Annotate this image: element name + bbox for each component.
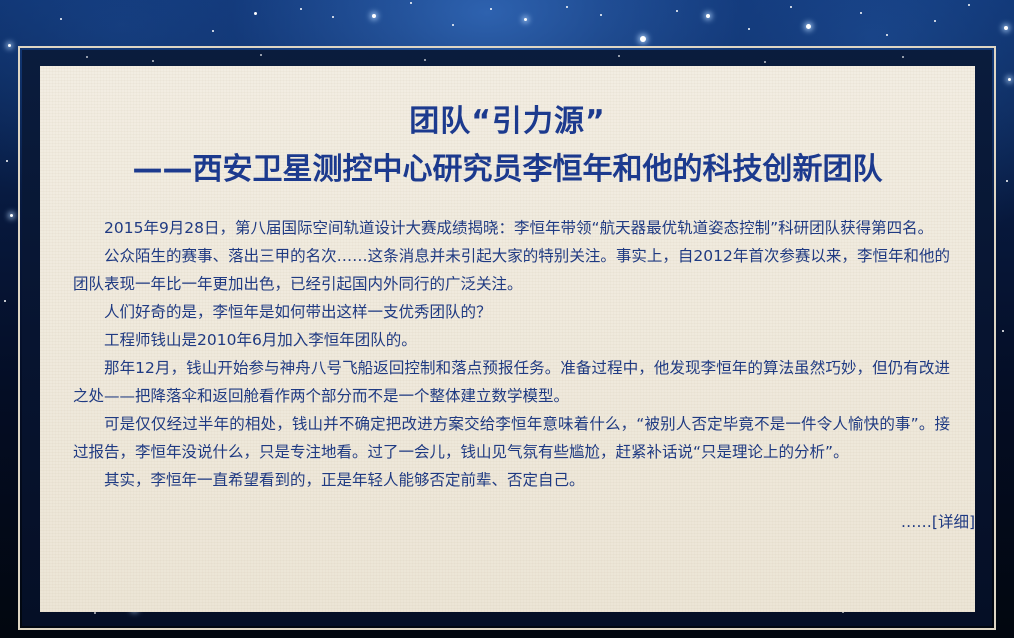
paragraph: 公众陌生的赛事、落出三甲的名次……这条消息并未引起大家的特别关注。事实上，自20…: [73, 242, 950, 298]
star: [452, 24, 454, 26]
star: [640, 36, 646, 42]
paragraph: 其实，李恒年一直希望看到的，正是年轻人能够否定前辈、否定自己。: [73, 466, 950, 494]
star: [902, 56, 904, 58]
article-header: 团队“引力源” ——西安卫星测控中心研究员李恒年和他的科技创新团队: [40, 66, 975, 190]
star: [886, 34, 888, 36]
star: [372, 14, 376, 18]
paragraph: 2015年9月28日，第八届国际空间轨道设计大赛成绩揭晓：李恒年带领“航天器最优…: [73, 214, 950, 242]
star: [212, 30, 214, 32]
star: [260, 54, 262, 56]
star: [10, 214, 13, 217]
star: [60, 18, 62, 20]
star: [764, 61, 766, 63]
page-title: 团队“引力源”: [40, 102, 975, 142]
star: [4, 300, 6, 302]
star: [94, 612, 96, 614]
star: [1006, 180, 1008, 182]
star: [254, 12, 257, 15]
star: [332, 16, 334, 18]
star: [790, 6, 792, 8]
star: [300, 8, 302, 10]
star: [1004, 26, 1008, 30]
star: [748, 28, 750, 30]
star: [806, 24, 811, 29]
star: [6, 160, 8, 162]
star: [706, 14, 710, 18]
star: [424, 59, 426, 61]
paragraph: 工程师钱山是2010年6月加入李恒年团队的。: [73, 326, 950, 354]
star: [490, 8, 492, 10]
star: [676, 10, 678, 12]
star: [152, 60, 154, 62]
star: [860, 12, 862, 14]
read-more-link[interactable]: ……[详细]: [40, 508, 975, 536]
star: [410, 2, 412, 4]
star: [618, 55, 620, 57]
star: [86, 56, 88, 58]
star: [968, 4, 970, 6]
paragraph: 人们好奇的是，李恒年是如何带出这样一支优秀团队的？: [73, 298, 950, 326]
paragraph: 可是仅仅经过半年的相处，钱山并不确定把改进方案交给李恒年意味着什么，“被别人否定…: [73, 410, 950, 466]
page-subtitle: ——西安卫星测控中心研究员李恒年和他的科技创新团队: [40, 150, 975, 190]
article-paper: 团队“引力源” ——西安卫星测控中心研究员李恒年和他的科技创新团队 2015年9…: [40, 66, 975, 612]
star: [1002, 330, 1004, 332]
star: [600, 14, 602, 16]
paragraph: 那年12月，钱山开始参与神舟八号飞船返回控制和落点预报任务。准备过程中，他发现李…: [73, 354, 950, 410]
article-body: 2015年9月28日，第八届国际空间轨道设计大赛成绩揭晓：李恒年带领“航天器最优…: [73, 214, 950, 494]
star: [1008, 78, 1011, 81]
star: [934, 20, 936, 22]
star: [566, 6, 568, 8]
star: [524, 18, 527, 21]
slide-stage: 团队“引力源” ——西安卫星测控中心研究员李恒年和他的科技创新团队 2015年9…: [0, 0, 1014, 638]
star: [8, 44, 11, 47]
